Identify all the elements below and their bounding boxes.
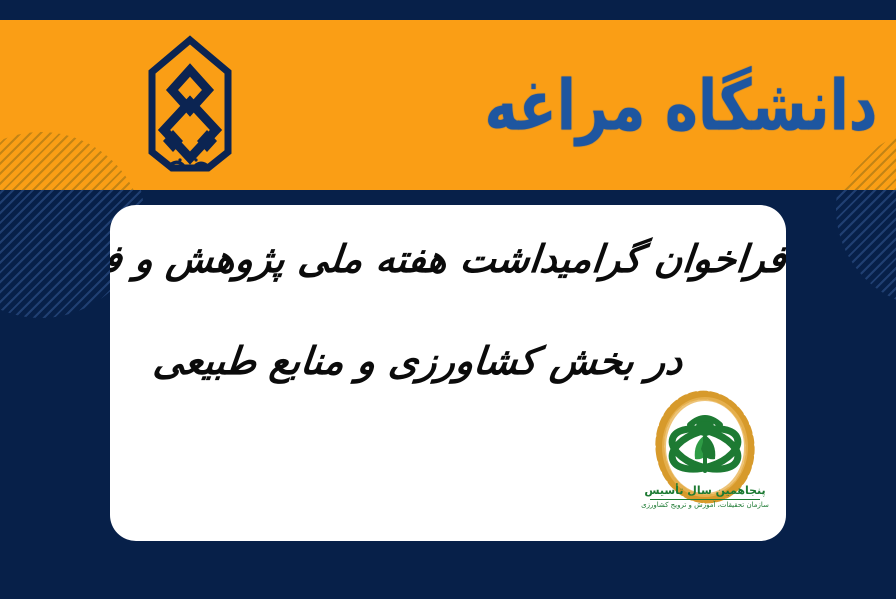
university-wordmark: دانشگاه مراغه <box>586 44 776 169</box>
headline-line-2: در بخش کشاورزی و منابع طبیعی <box>110 341 786 381</box>
headline-line-1: فراخوان گرامیداشت هفته ملی پژوهش و فناور… <box>110 239 786 279</box>
areeo-organization-text: سازمان تحقیقات، آموزش و ترویج کشاورزی <box>640 502 770 510</box>
headline-block: فراخوان گرامیداشت هفته ملی پژوهش و فناور… <box>110 239 786 381</box>
university-wordmark-text: دانشگاه مراغه <box>484 72 877 142</box>
areeo-caption-block: پنجاهمین سال تأسیس سازمان تحقیقات، آموزش… <box>640 485 770 510</box>
areeo-anniversary-text: پنجاهمین سال تأسیس <box>640 485 770 497</box>
hatched-circle-left <box>0 132 144 190</box>
areeo-caption-divider <box>650 499 760 500</box>
maragheh-university-emblem-icon <box>140 34 240 174</box>
poster-canvas: دانشگاه مراغه فراخوان گرامیداشت هفته ملی… <box>0 0 896 599</box>
